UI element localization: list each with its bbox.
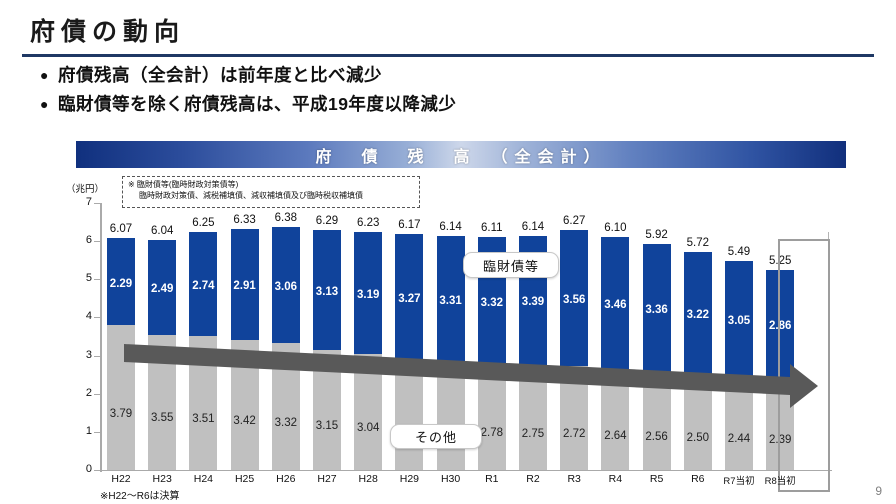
y-axis-tick-labels: 01234567 bbox=[62, 203, 92, 470]
bar-segment-other[interactable] bbox=[189, 336, 217, 470]
bar-total-label: 6.11 bbox=[481, 222, 503, 234]
bar-total-label: 6.38 bbox=[275, 212, 297, 224]
x-axis-tick-label: H29 bbox=[391, 473, 427, 485]
x-axis-tick-label: R2 bbox=[515, 473, 551, 485]
bullet-dot-icon: ● bbox=[40, 91, 49, 117]
x-axis-tick-label: H24 bbox=[185, 473, 221, 485]
bar-value-label-rinzai: 3.22 bbox=[687, 309, 709, 321]
bar-total-label: 6.04 bbox=[151, 225, 173, 237]
bar-value-label-other: 2.44 bbox=[728, 433, 750, 445]
page-number: 9 bbox=[875, 484, 882, 498]
bar-value-label-rinzai: 3.56 bbox=[563, 294, 585, 306]
x-axis-tick-label: H27 bbox=[309, 473, 345, 485]
chart-footnote: ※H22～R6は決算 bbox=[100, 487, 180, 502]
bar-value-label-rinzai: 3.13 bbox=[316, 286, 338, 298]
highlight-box-r8 bbox=[778, 239, 830, 492]
callout-top-series: 臨財債等 bbox=[463, 252, 559, 278]
bar-group[interactable]: 6.383.063.32 bbox=[272, 227, 300, 470]
bar-segment-other[interactable] bbox=[560, 366, 588, 470]
x-axis-tick-label: H30 bbox=[433, 473, 469, 485]
y-axis-tick-label: 7 bbox=[66, 196, 92, 208]
bar-group[interactable]: 6.042.493.55 bbox=[148, 240, 176, 470]
title-divider bbox=[22, 54, 874, 57]
bar-value-label-rinzai: 2.91 bbox=[233, 280, 255, 292]
bar-group[interactable]: 6.273.562.72 bbox=[560, 230, 588, 470]
x-axis-tick-label: R3 bbox=[556, 473, 592, 485]
y-axis-tick-label: 0 bbox=[66, 463, 92, 475]
bar-segment-other[interactable] bbox=[107, 325, 135, 470]
bar-total-label: 6.33 bbox=[233, 214, 255, 226]
bullet-text: 府債残高（全会計）は前年度と比べ減少 bbox=[58, 62, 382, 88]
x-axis-tick-label: R8当初 bbox=[757, 473, 803, 487]
bar-segment-other[interactable] bbox=[395, 359, 423, 470]
y-axis-tick-label: 6 bbox=[66, 234, 92, 246]
bar-value-label-rinzai: 2.49 bbox=[151, 283, 173, 295]
bar-segment-other[interactable] bbox=[725, 377, 753, 470]
bar-value-label-rinzai: 3.39 bbox=[522, 296, 544, 308]
chart-title: 府 債 残 高 （全会計） bbox=[315, 143, 606, 167]
bar-total-label: 6.17 bbox=[398, 219, 420, 231]
bar-value-label-rinzai: 3.06 bbox=[275, 281, 297, 293]
bar-value-label-other: 2.64 bbox=[604, 430, 626, 442]
x-axis-tick-label: R5 bbox=[639, 473, 675, 485]
bar-value-label-other: 3.51 bbox=[192, 413, 214, 425]
bar-segment-other[interactable] bbox=[354, 354, 382, 470]
bar-group[interactable]: 6.252.743.51 bbox=[189, 232, 217, 470]
x-axis-tick-label: R6 bbox=[680, 473, 716, 485]
bar-value-label-other: 3.04 bbox=[357, 422, 379, 434]
x-axis-tick-label: H28 bbox=[350, 473, 386, 485]
bar-value-label-other: 3.15 bbox=[316, 420, 338, 432]
bar-value-label-other: 2.78 bbox=[481, 427, 503, 439]
bullet-dot-icon: ● bbox=[40, 62, 49, 88]
bar-group[interactable]: 5.923.362.56 bbox=[643, 244, 671, 470]
bar-group[interactable]: 5.723.222.50 bbox=[684, 252, 712, 470]
chart-title-banner: 府 債 残 高 （全会計） bbox=[76, 141, 846, 168]
bar-group[interactable]: 6.072.293.79 bbox=[107, 238, 135, 470]
bullet-text: 臨財債等を除く府債残高は、平成19年度以降減少 bbox=[58, 91, 456, 117]
bar-segment-other[interactable] bbox=[148, 335, 176, 470]
bar-total-label: 6.14 bbox=[522, 221, 544, 233]
y-axis-tick-label: 1 bbox=[66, 425, 92, 437]
x-axis-tick-label: R4 bbox=[597, 473, 633, 485]
bar-segment-other[interactable] bbox=[684, 375, 712, 470]
bar-segment-other[interactable] bbox=[601, 369, 629, 470]
bar-segment-other[interactable] bbox=[313, 350, 341, 470]
x-axis-line bbox=[100, 470, 832, 471]
y-axis-tick-label: 3 bbox=[66, 349, 92, 361]
bullet-item: ● 臨財債等を除く府債残高は、平成19年度以降減少 bbox=[40, 91, 860, 117]
bar-value-label-other: 2.72 bbox=[563, 428, 585, 440]
bar-value-label-other: 3.55 bbox=[151, 412, 173, 424]
x-axis-tick-label: R1 bbox=[474, 473, 510, 485]
bar-total-label: 6.27 bbox=[563, 215, 585, 227]
x-axis-tick-label: H22 bbox=[103, 473, 139, 485]
bar-group[interactable]: 6.233.193.04 bbox=[354, 232, 382, 470]
bar-group[interactable]: 5.493.052.44 bbox=[725, 261, 753, 470]
y-axis-tick-label: 2 bbox=[66, 387, 92, 399]
bar-total-label: 6.25 bbox=[192, 217, 214, 229]
bar-value-label-other: 3.79 bbox=[110, 408, 132, 420]
bar-segment-other[interactable] bbox=[519, 365, 547, 470]
bar-value-label-other: 3.42 bbox=[233, 415, 255, 427]
x-axis-tick-label: H25 bbox=[227, 473, 263, 485]
bar-total-label: 6.14 bbox=[439, 221, 461, 233]
bar-segment-other[interactable] bbox=[437, 362, 465, 470]
bar-value-label-rinzai: 3.46 bbox=[604, 299, 626, 311]
bar-total-label: 5.72 bbox=[687, 237, 709, 249]
bar-value-label-other: 3.32 bbox=[275, 417, 297, 429]
bullet-list: ● 府債残高（全会計）は前年度と比べ減少 ● 臨財債等を除く府債残高は、平成19… bbox=[40, 62, 860, 120]
bar-group[interactable]: 6.332.913.42 bbox=[231, 229, 259, 470]
y-axis-tick-label: 5 bbox=[66, 272, 92, 284]
bar-segment-other[interactable] bbox=[478, 364, 506, 470]
y-axis-unit-label: （兆円） bbox=[66, 181, 104, 195]
note-line-1: ※ 臨財債等(臨時財政対策債等) bbox=[128, 179, 414, 190]
bar-value-label-rinzai: 3.27 bbox=[398, 293, 420, 305]
bar-total-label: 6.23 bbox=[357, 217, 379, 229]
bar-group[interactable]: 6.103.462.64 bbox=[601, 237, 629, 470]
bar-total-label: 6.10 bbox=[604, 222, 626, 234]
bar-value-label-other: 2.56 bbox=[645, 431, 667, 443]
bar-value-label-rinzai: 3.36 bbox=[645, 304, 667, 316]
bar-total-label: 6.29 bbox=[316, 215, 338, 227]
bar-value-label-rinzai: 2.29 bbox=[110, 278, 132, 290]
bar-value-label-rinzai: 3.32 bbox=[481, 297, 503, 309]
bar-value-label-rinzai: 3.05 bbox=[728, 315, 750, 327]
bar-total-label: 6.07 bbox=[110, 223, 132, 235]
x-axis-tick-label: H26 bbox=[268, 473, 304, 485]
bar-segment-other[interactable] bbox=[272, 343, 300, 470]
note-line-2: 臨時財政対策債、減税補填債、減収補填債及び臨時税収補填債 bbox=[128, 190, 414, 201]
bar-total-label: 5.92 bbox=[645, 229, 667, 241]
bar-group[interactable]: 6.293.133.15 bbox=[313, 230, 341, 470]
bar-value-label-rinzai: 3.19 bbox=[357, 289, 379, 301]
bar-segment-other[interactable] bbox=[231, 340, 259, 470]
y-axis-tick-label: 4 bbox=[66, 310, 92, 322]
bar-segment-other[interactable] bbox=[643, 372, 671, 470]
callout-bottom-series: その他 bbox=[390, 424, 482, 449]
bar-value-label-rinzai: 3.31 bbox=[439, 295, 461, 307]
y-axis-tick bbox=[94, 470, 100, 471]
page-title: 府債の動向 bbox=[30, 12, 185, 48]
bullet-item: ● 府債残高（全会計）は前年度と比べ減少 bbox=[40, 62, 860, 88]
x-axis-tick-label: H23 bbox=[144, 473, 180, 485]
x-axis-tick-label: R7当初 bbox=[716, 473, 762, 487]
bar-value-label-other: 2.75 bbox=[522, 428, 544, 440]
bar-value-label-rinzai: 2.74 bbox=[192, 280, 214, 292]
bar-value-label-other: 2.50 bbox=[687, 432, 709, 444]
bar-total-label: 5.49 bbox=[728, 246, 750, 258]
